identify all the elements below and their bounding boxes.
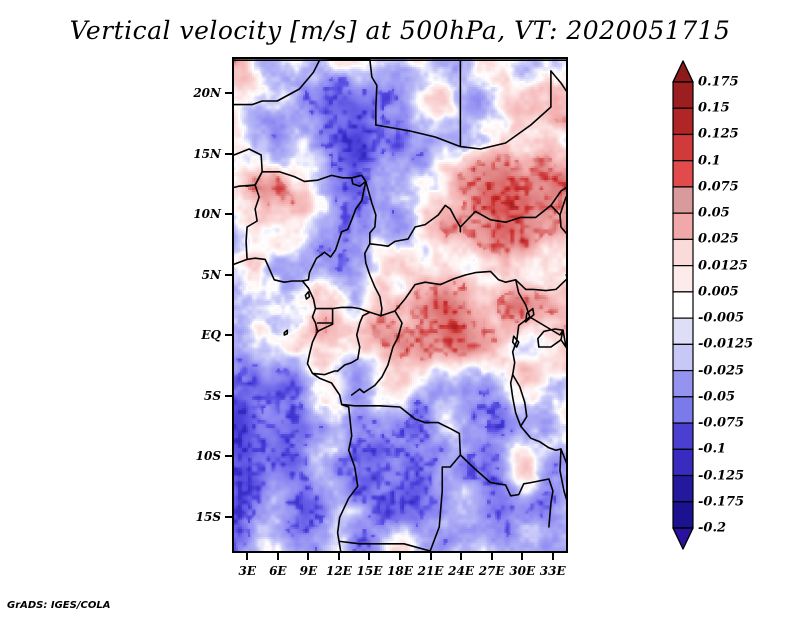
lon-axis-label: 24E <box>448 564 474 578</box>
lat-axis-label: 10S <box>196 449 221 463</box>
colorbar-tick-label: 0.05 <box>698 206 730 221</box>
map-plot-area <box>232 57 568 553</box>
lat-tick-mark <box>225 395 232 397</box>
colorbar-tick-label: -0.175 <box>698 494 744 509</box>
lon-axis-label: 12E <box>326 564 352 578</box>
lon-tick-mark <box>338 553 340 560</box>
lat-tick-mark <box>225 455 232 457</box>
lon-axis-label: 21E <box>418 564 444 578</box>
footer-credit: GrADS: IGES/COLA <box>7 600 110 611</box>
lon-axis-label: 9E <box>300 564 318 578</box>
lon-axis-label: 3E <box>239 564 257 578</box>
colorbar-min-arrow <box>673 528 693 549</box>
colorbar-segment <box>673 449 693 475</box>
colorbar-tick-label: -0.005 <box>698 311 744 326</box>
colorbar-segment <box>673 476 693 502</box>
lat-axis-label: 15S <box>196 510 221 524</box>
lat-axis-label: 20N <box>193 86 221 100</box>
lon-tick-mark <box>246 553 248 560</box>
colorbar-tick-label: 0.025 <box>698 232 739 247</box>
lon-axis-label: 6E <box>269 564 287 578</box>
colorbar-segment <box>673 318 693 344</box>
page-title: Vertical velocity [m/s] at 500hPa, VT: 2… <box>0 16 800 45</box>
colorbar-segment <box>673 292 693 318</box>
lon-tick-mark <box>277 553 279 560</box>
lat-tick-mark <box>225 213 232 215</box>
colorbar-tick-label: 0.175 <box>698 75 739 90</box>
colorbar-tick-label: 0.0125 <box>698 258 748 273</box>
vertical-velocity-field <box>234 59 566 551</box>
colorbar-tick-label: -0.2 <box>698 521 726 536</box>
lon-tick-mark <box>430 553 432 560</box>
lat-tick-mark <box>225 516 232 518</box>
lon-axis-label: 27E <box>479 564 505 578</box>
colorbar-segment <box>673 266 693 292</box>
lon-tick-mark <box>460 553 462 560</box>
lat-axis-label: 5N <box>202 268 221 282</box>
colorbar-tick-label: 0.005 <box>698 284 739 299</box>
colorbar-segment <box>673 423 693 449</box>
colorbar-segment <box>673 134 693 160</box>
colorbar-max-arrow <box>673 61 693 82</box>
colorbar <box>672 60 694 550</box>
colorbar-segment <box>673 161 693 187</box>
colorbar-tick-label: -0.025 <box>698 363 744 378</box>
colorbar-tick-label: -0.0125 <box>698 337 753 352</box>
lat-axis-label: 15N <box>193 147 221 161</box>
lon-axis-label: 18E <box>387 564 413 578</box>
lat-tick-mark <box>225 274 232 276</box>
colorbar-tick-label: 0.1 <box>698 153 721 168</box>
lat-tick-mark <box>225 153 232 155</box>
lon-axis-label: 30E <box>509 564 535 578</box>
colorbar-segment <box>673 239 693 265</box>
colorbar-tick-label: 0.125 <box>698 127 739 142</box>
colorbar-segment <box>673 108 693 134</box>
colorbar-segment <box>673 371 693 397</box>
colorbar-tick-label: 0.15 <box>698 101 730 116</box>
colorbar-segment <box>673 82 693 108</box>
lon-tick-mark <box>552 553 554 560</box>
colorbar-tick-label: -0.05 <box>698 389 735 404</box>
colorbar-tick-label: 0.075 <box>698 179 739 194</box>
lon-tick-mark <box>491 553 493 560</box>
colorbar-segment <box>673 397 693 423</box>
lon-tick-mark <box>307 553 309 560</box>
lon-tick-mark <box>399 553 401 560</box>
colorbar-tick-label: -0.1 <box>698 442 726 457</box>
colorbar-segment <box>673 502 693 528</box>
lat-axis-label: 10N <box>193 207 221 221</box>
colorbar-tick-label: -0.125 <box>698 468 744 483</box>
colorbar-segment <box>673 187 693 213</box>
lat-axis-label: EQ <box>201 328 221 342</box>
colorbar-segment <box>673 213 693 239</box>
colorbar-segment <box>673 344 693 370</box>
lon-axis-label: 33E <box>540 564 566 578</box>
lon-tick-mark <box>368 553 370 560</box>
lat-tick-mark <box>225 334 232 336</box>
lat-axis-label: 5S <box>204 389 221 403</box>
colorbar-tick-label: -0.075 <box>698 416 744 431</box>
lon-axis-label: 15E <box>357 564 383 578</box>
lon-tick-mark <box>521 553 523 560</box>
lat-tick-mark <box>225 92 232 94</box>
